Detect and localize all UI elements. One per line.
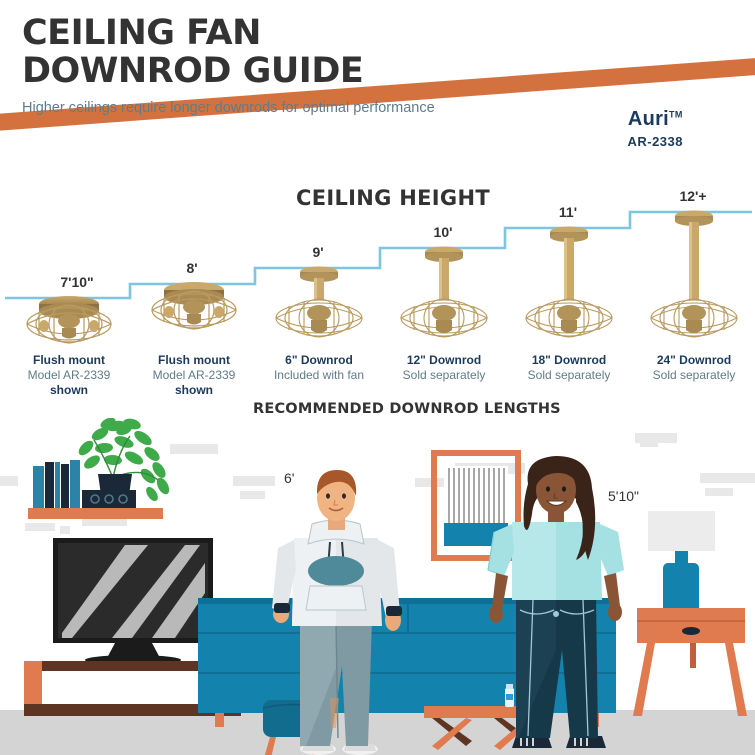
height-label-0: 7'10" (42, 274, 112, 290)
caption-0-line-1: Flush mount (0, 353, 139, 368)
shelf-plank (28, 508, 163, 519)
height-label-2: 9' (283, 244, 353, 260)
books (33, 460, 80, 508)
caption-0-line-2: Model AR-2339 (0, 368, 139, 383)
height-label-1: 8' (157, 260, 227, 276)
caption-3-line-1: 12" Downrod (374, 353, 514, 368)
recommended-downrod-lengths-heading: RECOMMENDED DOWNROD LENGTHS (253, 401, 561, 417)
header-title-block: CEILING FAN DOWNROD GUIDE Higher ceiling… (22, 14, 542, 118)
caption-2: 6" Downrod Included with fan (249, 353, 389, 383)
caption-5: 24" Downrod Sold separately (624, 353, 755, 383)
digital-clock (82, 490, 136, 508)
caption-4-line-1: 18" Downrod (499, 353, 639, 368)
fan-downrod-4 (513, 226, 625, 346)
caption-5-line-1: 24" Downrod (624, 353, 755, 368)
caption-2-line-2: Included with fan (249, 368, 389, 383)
fan-downrod-5 (638, 210, 750, 346)
person-right-height-label: 5'10" (608, 488, 639, 504)
brand-block: AuriTM AR-2338 (627, 108, 683, 149)
height-label-3: 10' (408, 224, 478, 240)
caption-4: 18" Downrod Sold separately (499, 353, 639, 383)
caption-0: Flush mount Model AR-2339 shown (0, 353, 139, 398)
caption-4-line-2: Sold separately (499, 368, 639, 383)
page-title-line-2: DOWNROD GUIDE (22, 52, 542, 90)
fan-downrod-3 (388, 246, 500, 346)
fan-downrod-2 (263, 266, 375, 346)
caption-1-line-1: Flush mount (124, 353, 264, 368)
brand-model-number: AR-2338 (627, 134, 683, 149)
height-label-4: 11' (533, 204, 603, 220)
caption-1: Flush mount Model AR-2339 shown (124, 353, 264, 398)
brand-name: AuriTM (627, 108, 683, 131)
caption-0-line-3: shown (0, 383, 139, 398)
caption-3-line-2: Sold separately (374, 368, 514, 383)
room-scene-illustration (0, 418, 755, 755)
page-title-line-1: CEILING FAN (22, 14, 542, 52)
trademark-symbol: TM (669, 109, 683, 119)
side-table-top (637, 608, 745, 643)
caption-1-line-2: Model AR-2339 (124, 368, 264, 383)
lamp-shade (648, 511, 715, 551)
caption-5-line-2: Sold separately (624, 368, 755, 383)
page-subtitle: Higher ceilings require longer downrods … (22, 99, 542, 118)
brand-name-text: Auri (628, 108, 669, 130)
fan-flush-mount-0 (14, 294, 124, 349)
fan-flush-mount-1 (139, 280, 249, 335)
caption-3: 12" Downrod Sold separately (374, 353, 514, 383)
caption-2-line-1: 6" Downrod (249, 353, 389, 368)
height-label-5: 12'+ (658, 188, 728, 204)
person-left-height-label: 6' (284, 470, 294, 486)
infographic-canvas: CEILING FAN DOWNROD GUIDE Higher ceiling… (0, 0, 755, 755)
caption-1-line-3: shown (124, 383, 264, 398)
